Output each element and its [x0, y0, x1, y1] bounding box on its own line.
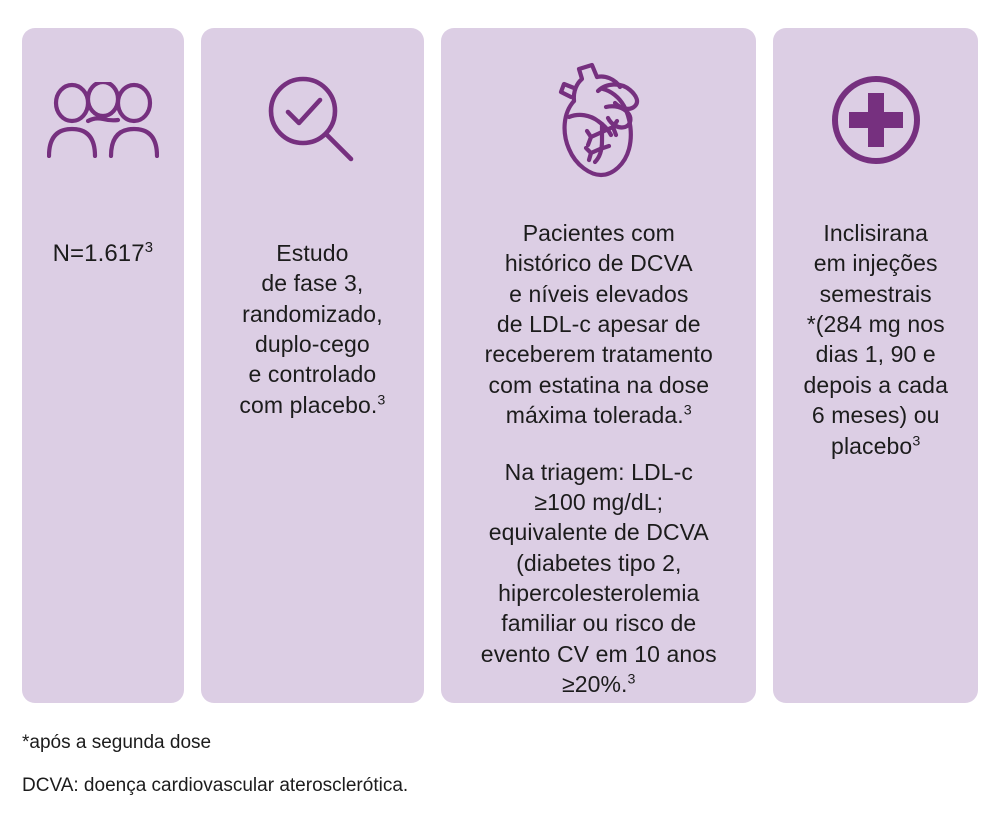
screening-criteria-text: Na triagem: LDL-c ≥100 mg/dL; equivalent… [481, 457, 717, 700]
reference-marker: 3 [912, 433, 920, 449]
footnote-asterisk: *após a segunda dose [22, 728, 962, 757]
study-design-text: Estudo de fase 3, randomizado, duplo-ceg… [239, 238, 385, 420]
magnifier-check-icon [266, 54, 358, 186]
card-participants-body: N=1.6173 [32, 186, 174, 689]
treatment-regimen-text: Inclisirana em injeções semestrais *(284… [803, 218, 948, 461]
plus-in-circle-icon [830, 54, 922, 186]
card-participants: N=1.6173 [22, 28, 184, 703]
three-people-icon [47, 54, 159, 186]
study-cards-row: N=1.6173 Estudo de fase 3, randomizado, … [22, 28, 978, 703]
reference-marker: 3 [628, 671, 636, 687]
reference-marker: 3 [377, 392, 385, 408]
study-summary-page: N=1.6173 Estudo de fase 3, randomizado, … [0, 0, 1000, 838]
card-treatment-body: Inclisirana em injeções semestrais *(284… [783, 186, 968, 689]
footnotes: *após a segunda dose DCVA: doença cardio… [22, 728, 962, 801]
card-study-design: Estudo de fase 3, randomizado, duplo-ceg… [201, 28, 425, 703]
card-treatment: Inclisirana em injeções semestrais *(284… [773, 28, 978, 703]
population-criteria-text: Pacientes com histórico de DCVA e níveis… [485, 218, 713, 431]
card-population: Pacientes com histórico de DCVA e níveis… [441, 28, 756, 703]
anatomical-heart-icon [551, 54, 647, 186]
reference-marker: 3 [684, 403, 692, 419]
footnote-abbreviation: DCVA: doença cardiovascular aterosclerót… [22, 771, 962, 800]
card-population-body: Pacientes com histórico de DCVA e níveis… [451, 186, 746, 699]
card-study-design-body: Estudo de fase 3, randomizado, duplo-ceg… [211, 186, 415, 689]
participants-count: N=1.6173 [53, 238, 153, 270]
reference-marker: 3 [145, 240, 153, 256]
